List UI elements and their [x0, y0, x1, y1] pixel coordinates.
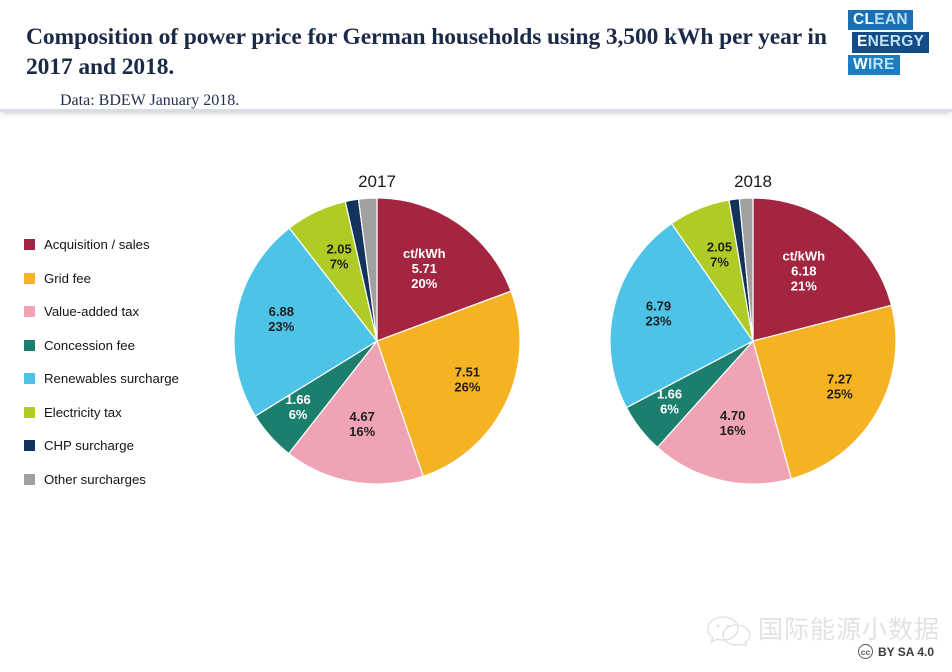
clean-energy-wire-logo[interactable]: CLEAN ENERGY WIRE	[848, 10, 934, 75]
legend-item-label: Value-added tax	[44, 304, 139, 319]
pie-slice-label-line: 7.51	[455, 364, 480, 379]
pie-slice-label-line: 7%	[330, 256, 349, 271]
pie-slice-label-line: 4.67	[350, 409, 375, 424]
wechat-bubble-icon	[706, 614, 752, 646]
pie-slice-label-line: 1.66	[285, 392, 310, 407]
pie-chart-2018: ct/kWh6.1821%7.2725%4.7016%1.666%6.7923%…	[608, 196, 898, 492]
pie-slice-label-line: 6%	[289, 407, 308, 422]
logo-energy-rest: NERGY	[868, 33, 925, 50]
legend-item-label: Electricity tax	[44, 405, 122, 420]
header-card: Composition of power price for German ho…	[0, 0, 952, 112]
pie-slice-label: 7.2725%	[827, 372, 853, 402]
logo-line-wire: WIRE	[848, 55, 900, 75]
data-source-label: Data: BDEW January 2018.	[60, 92, 836, 110]
pie-slice-label-line: 6%	[660, 402, 679, 417]
pie-year-label-2018: 2018	[608, 172, 898, 192]
logo-line-clean: CLEAN	[848, 10, 913, 30]
pie-slice-label-line: 6.88	[269, 304, 294, 319]
pie-slice-label-line: ct/kWh	[403, 246, 446, 261]
legend-item: Other surcharges	[24, 463, 234, 497]
legend-swatch-icon	[24, 239, 35, 250]
pie-slice-label-line: 21%	[791, 279, 817, 294]
pie-slice-label-line: 25%	[827, 387, 853, 402]
logo-wire-rest: IRE	[868, 56, 895, 73]
cc-license-label: BY SA 4.0	[878, 645, 934, 659]
pie-slice-label-line: 2.05	[326, 241, 351, 256]
pie-slice-label-line: 20%	[411, 276, 437, 291]
legend-item-label: Other surcharges	[44, 472, 146, 487]
pie-slice-label-line: 23%	[268, 319, 294, 334]
pie-slice-label-line: 2.05	[707, 239, 732, 254]
logo-wire-lead: W	[853, 56, 868, 73]
pie-slice-label-line: 26%	[454, 379, 480, 394]
legend-item-label: Acquisition / sales	[44, 237, 150, 252]
pie-slice-label-line: 6.79	[646, 298, 671, 313]
pie-slice-label: 1.666%	[657, 387, 682, 417]
legend-item: CHP surcharge	[24, 429, 234, 463]
legend-item-label: Renewables surcharge	[44, 371, 179, 386]
pie-slice-label-line: 7%	[710, 254, 729, 269]
pie-slice-label-line: 6.18	[791, 264, 816, 279]
creative-commons-icon: cc	[858, 644, 873, 659]
title-block: Composition of power price for German ho…	[26, 22, 836, 110]
pie-slice-label-line: 16%	[349, 424, 375, 439]
logo-clean-rest: EAN	[874, 11, 908, 28]
legend-item: Value-added tax	[24, 295, 234, 329]
legend-swatch-icon	[24, 440, 35, 451]
legend-item: Electricity tax	[24, 396, 234, 430]
legend-item-label: Grid fee	[44, 271, 91, 286]
legend-item: Acquisition / sales	[24, 228, 234, 262]
pie-slice-label: 1.666%	[285, 392, 310, 422]
legend-item: Grid fee	[24, 262, 234, 296]
legend-swatch-icon	[24, 273, 35, 284]
pie-slice-label-line: 5.71	[412, 261, 437, 276]
cc-license: cc BY SA 4.0	[858, 644, 934, 659]
legend-item: Renewables surcharge	[24, 362, 234, 396]
pie-slice-label-line: 1.66	[657, 387, 682, 402]
pie-slice-label: 6.8823%	[268, 304, 294, 334]
footer-watermark: 国际能源小数据 cc BY SA 4.0	[700, 608, 940, 664]
pie-slice-label-line: 4.70	[720, 408, 745, 423]
legend-swatch-icon	[24, 373, 35, 384]
chart-legend: Acquisition / salesGrid feeValue-added t…	[24, 228, 234, 496]
watermark-label: 国际能源小数据	[758, 610, 940, 646]
pie-slice-label: 4.6716%	[349, 409, 375, 439]
pie-slice-label: 2.057%	[326, 241, 351, 271]
pie-slice-label: 2.057%	[707, 239, 732, 269]
legend-swatch-icon	[24, 340, 35, 351]
legend-swatch-icon	[24, 306, 35, 317]
pie-slice-label-line: 23%	[645, 313, 671, 328]
legend-swatch-icon	[24, 407, 35, 418]
legend-swatch-icon	[24, 474, 35, 485]
logo-energy-lead: E	[857, 33, 868, 50]
pie-year-label-2017: 2017	[232, 172, 522, 192]
legend-item-label: Concession fee	[44, 338, 135, 353]
pie-slice-label-line: 16%	[720, 423, 746, 438]
page-title: Composition of power price for German ho…	[26, 22, 836, 83]
pie-slice-label: 6.7923%	[645, 298, 671, 328]
pie-slice-label-line: ct/kWh	[782, 249, 825, 264]
logo-line-energy: ENERGY	[852, 32, 929, 52]
legend-item-label: CHP surcharge	[44, 438, 134, 453]
logo-clean-lead: CL	[853, 11, 874, 28]
pie-chart-2017: ct/kWh5.7120%7.5126%4.6716%1.666%6.8823%…	[232, 196, 522, 492]
pie-slice-label: 4.7016%	[720, 408, 746, 438]
pie-slice-label: 7.5126%	[454, 364, 480, 394]
pie-slice-label-line: 7.27	[827, 372, 852, 387]
legend-item: Concession fee	[24, 329, 234, 363]
